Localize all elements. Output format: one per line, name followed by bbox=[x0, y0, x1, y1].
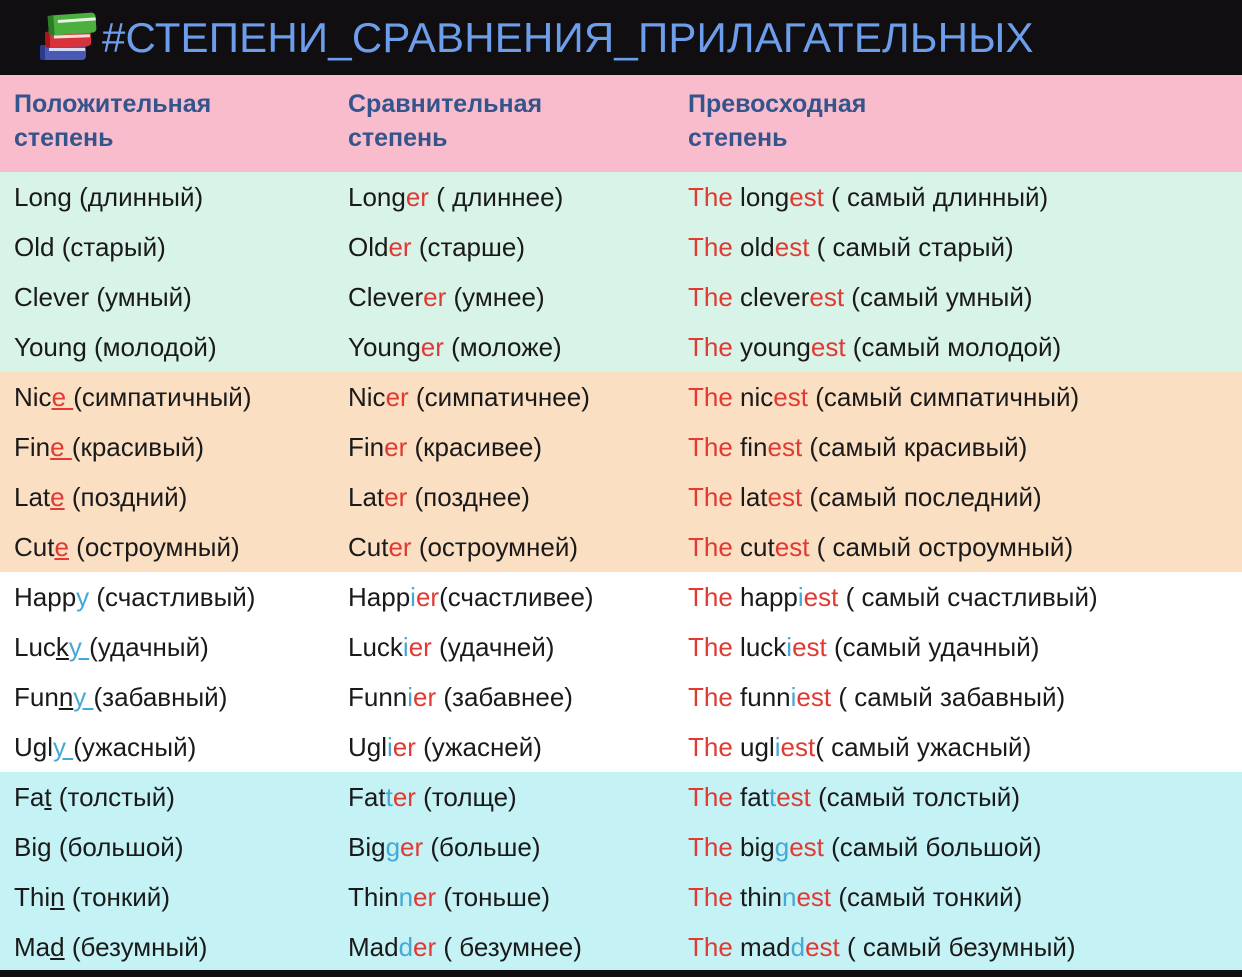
cell-superlative: The ugliest( самый ужасный) bbox=[680, 732, 1242, 763]
text-run: (тоньше) bbox=[436, 882, 550, 912]
text-run: happ bbox=[733, 582, 798, 612]
cell-positive: Fat (толстый) bbox=[0, 782, 340, 813]
text-run: ( самый ужасный) bbox=[815, 732, 1031, 762]
text-run: Old bbox=[348, 232, 388, 262]
text-run: Ugl bbox=[348, 732, 387, 762]
text-run: est bbox=[789, 182, 824, 212]
cell-superlative: The fattest (самый толстый) bbox=[680, 782, 1242, 813]
text-run: Luck bbox=[348, 632, 403, 662]
text-run: Fin bbox=[348, 432, 384, 462]
cell-positive: Young (молодой) bbox=[0, 332, 340, 363]
cell-positive: Thin (тонкий) bbox=[0, 882, 340, 913]
text-run: Big bbox=[348, 832, 386, 862]
text-run: (самый удачный) bbox=[827, 632, 1040, 662]
text-run: t bbox=[386, 782, 393, 812]
text-run: Long bbox=[348, 182, 406, 212]
table-row: Late (поздний)Later (позднее)The latest … bbox=[0, 472, 1242, 522]
text-run: Cut bbox=[348, 532, 388, 562]
cell-comparative: Longer ( длиннее) bbox=[340, 182, 680, 213]
text-run: long bbox=[733, 182, 789, 212]
text-run: (большой) bbox=[52, 832, 184, 862]
text-run: y bbox=[76, 582, 89, 612]
text-run: The bbox=[688, 782, 733, 812]
text-run: The bbox=[688, 282, 733, 312]
text-run: mad bbox=[733, 932, 791, 962]
table-section-doubled-consonant: Fat (толстый)Fatter (толще)The fattest (… bbox=[0, 772, 1242, 972]
text-run: er bbox=[413, 882, 436, 912]
text-run: (ужасный) bbox=[73, 732, 196, 762]
text-run: Happ bbox=[348, 582, 410, 612]
text-run: The bbox=[688, 532, 733, 562]
text-run: Nic bbox=[348, 382, 386, 412]
cell-superlative: The funniest ( самый забавный) bbox=[680, 682, 1242, 713]
text-run: e bbox=[50, 482, 64, 512]
text-run: est bbox=[768, 432, 803, 462]
bottom-bar bbox=[0, 970, 1242, 977]
cell-positive: Long (длинный) bbox=[0, 182, 340, 213]
text-run: The bbox=[688, 182, 733, 212]
text-run: Clever bbox=[348, 282, 423, 312]
table-row: Clever (умный)Cleverer (умнее)The clever… bbox=[0, 272, 1242, 322]
cell-positive: Big (большой) bbox=[0, 832, 340, 863]
text-run: (остроумней) bbox=[412, 532, 578, 562]
text-run: (симпатичнее) bbox=[409, 382, 590, 412]
text-run: Lat bbox=[348, 482, 384, 512]
text-run: The bbox=[688, 682, 733, 712]
text-run: (длинный) bbox=[72, 182, 203, 212]
text-run: (удачней) bbox=[432, 632, 555, 662]
text-run: er bbox=[423, 282, 446, 312]
text-run: ugl bbox=[733, 732, 775, 762]
text-run: est bbox=[781, 732, 816, 762]
text-run: er bbox=[386, 382, 409, 412]
column-header-comparative: Сравнительная степень bbox=[340, 75, 680, 172]
text-run: Cut bbox=[14, 532, 54, 562]
table-row: Lucky (удачный)Luckier (удачней)The luck… bbox=[0, 622, 1242, 672]
cell-superlative: The biggest (самый большой) bbox=[680, 832, 1242, 863]
text-run: g bbox=[386, 832, 400, 862]
cell-superlative: The happiest ( самый счастливый) bbox=[680, 582, 1242, 613]
cell-comparative: Bigger (больше) bbox=[340, 832, 680, 863]
table-row: Nice (симпатичный)Nicer (симпатичнее)The… bbox=[0, 372, 1242, 422]
text-run: e bbox=[54, 532, 68, 562]
adjective-table: Long (длинный)Longer ( длиннее)The longe… bbox=[0, 172, 1242, 970]
text-run: (старше) bbox=[412, 232, 525, 262]
text-run: t bbox=[44, 782, 51, 812]
cell-positive: Late (поздний) bbox=[0, 482, 340, 513]
text-run: (симпатичный) bbox=[73, 382, 251, 412]
cell-positive: Funny (забавный) bbox=[0, 682, 340, 713]
text-run: er bbox=[413, 932, 436, 962]
text-run: Long bbox=[14, 182, 72, 212]
text-run: (удачный) bbox=[89, 632, 209, 662]
text-run: (самый большой) bbox=[824, 832, 1042, 862]
text-run: est bbox=[775, 532, 810, 562]
text-run: n bbox=[399, 882, 413, 912]
text-run: fat bbox=[733, 782, 769, 812]
cell-superlative: The cutest ( самый остроумный) bbox=[680, 532, 1242, 563]
cell-comparative: Cuter (остроумней) bbox=[340, 532, 680, 563]
text-run: er bbox=[388, 532, 411, 562]
text-run: ( безумнее) bbox=[436, 932, 582, 962]
text-run: est bbox=[776, 782, 811, 812]
text-run: est bbox=[768, 482, 803, 512]
text-run: Old bbox=[14, 232, 54, 262]
text-run: luck bbox=[733, 632, 786, 662]
table-row: Funny (забавный)Funnier (забавнее)The fu… bbox=[0, 672, 1242, 722]
text-run: est bbox=[811, 332, 846, 362]
text-run: thin bbox=[733, 882, 782, 912]
text-run: er bbox=[413, 682, 436, 712]
text-run: (толстый) bbox=[52, 782, 175, 812]
text-run: nic bbox=[733, 382, 773, 412]
column-header-positive-line2: степень bbox=[14, 121, 340, 155]
cell-superlative: The oldest ( самый старый) bbox=[680, 232, 1242, 263]
text-run: Fin bbox=[14, 432, 50, 462]
cell-superlative: The nicest (самый симпатичный) bbox=[680, 382, 1242, 413]
cell-comparative: Uglier (ужасней) bbox=[340, 732, 680, 763]
text-run: clever bbox=[733, 282, 810, 312]
text-run: est bbox=[792, 632, 827, 662]
cell-positive: Cute (остроумный) bbox=[0, 532, 340, 563]
text-run: The bbox=[688, 332, 733, 362]
text-run: Luc bbox=[14, 632, 56, 662]
cell-superlative: The finest (самый красивый) bbox=[680, 432, 1242, 463]
text-run: est bbox=[796, 882, 831, 912]
text-run: cut bbox=[733, 532, 775, 562]
text-run: (самый молодой) bbox=[846, 332, 1062, 362]
cell-comparative: Cleverer (умнее) bbox=[340, 282, 680, 313]
text-run: Ugl bbox=[14, 732, 53, 762]
text-run: Lat bbox=[14, 482, 50, 512]
cell-comparative: Thinner (тоньше) bbox=[340, 882, 680, 913]
text-run: er bbox=[384, 432, 407, 462]
column-header-positive-line1: Положительная bbox=[14, 87, 340, 121]
cell-positive: Ugly (ужасный) bbox=[0, 732, 340, 763]
text-run: ( самый старый) bbox=[809, 232, 1013, 262]
text-run: ( самый счастливый) bbox=[838, 582, 1097, 612]
table-row: Long (длинный)Longer ( длиннее)The longe… bbox=[0, 172, 1242, 222]
text-run: (забавнее) bbox=[436, 682, 573, 712]
text-run: Ma bbox=[14, 932, 50, 962]
text-run: est bbox=[789, 832, 824, 862]
table-row: Mad (безумный)Madder ( безумнее)The madd… bbox=[0, 922, 1242, 972]
text-run: (больше) bbox=[423, 832, 540, 862]
text-run: The bbox=[688, 632, 733, 662]
text-run: y bbox=[73, 682, 93, 712]
text-run: er bbox=[400, 832, 423, 862]
text-run: (умный) bbox=[89, 282, 192, 312]
text-run: Funn bbox=[348, 682, 407, 712]
text-run: Bi bbox=[14, 832, 37, 862]
text-run: (счастливый) bbox=[89, 582, 255, 612]
text-run: er bbox=[409, 632, 432, 662]
text-run: est bbox=[796, 682, 831, 712]
column-header-superlative-line1: Превосходная bbox=[688, 87, 1242, 121]
text-run: er bbox=[384, 482, 407, 512]
books-icon bbox=[38, 12, 96, 66]
table-row: Ugly (ужасный)Uglier (ужасней)The uglies… bbox=[0, 722, 1242, 772]
text-run: est bbox=[805, 932, 840, 962]
text-run: The bbox=[688, 832, 733, 862]
cell-positive: Happy (счастливый) bbox=[0, 582, 340, 613]
text-run: (поздний) bbox=[65, 482, 188, 512]
text-run: old bbox=[733, 232, 775, 262]
text-run: k bbox=[56, 632, 69, 662]
table-row: Big (большой)Bigger (больше)The biggest … bbox=[0, 822, 1242, 872]
cell-comparative: Funnier (забавнее) bbox=[340, 682, 680, 713]
cell-positive: Lucky (удачный) bbox=[0, 632, 340, 663]
text-run: Nic bbox=[14, 382, 52, 412]
text-run: Fat bbox=[348, 782, 386, 812]
text-run: n bbox=[50, 882, 64, 912]
text-run: er bbox=[421, 332, 444, 362]
cell-superlative: The cleverest (самый умный) bbox=[680, 282, 1242, 313]
text-run: ( длиннее) bbox=[429, 182, 563, 212]
cell-comparative: Happier(счастливее) bbox=[340, 582, 680, 613]
text-run: er bbox=[393, 782, 416, 812]
infographic-page: #СТЕПЕНИ_СРАВНЕНИЯ_ПРИЛАГАТЕЛЬНЫХ Положи… bbox=[0, 0, 1242, 977]
column-header-row: Положительная степень Сравнительная степ… bbox=[0, 75, 1242, 172]
text-run: ( самый длинный) bbox=[824, 182, 1048, 212]
column-header-comparative-line2: степень bbox=[348, 121, 680, 155]
text-run: g bbox=[775, 832, 789, 862]
text-run: ( самый безумный) bbox=[840, 932, 1076, 962]
text-run: funn bbox=[733, 682, 791, 712]
cell-positive: Nice (симпатичный) bbox=[0, 382, 340, 413]
text-run: Young bbox=[14, 332, 87, 362]
cell-superlative: The luckiest (самый удачный) bbox=[680, 632, 1242, 663]
table-row: Fat (толстый)Fatter (толще)The fattest (… bbox=[0, 772, 1242, 822]
column-header-superlative: Превосходная степень bbox=[680, 75, 1242, 172]
text-run: d bbox=[791, 932, 805, 962]
text-run: The bbox=[688, 232, 733, 262]
text-run: est bbox=[773, 382, 808, 412]
text-run: The bbox=[688, 382, 733, 412]
text-run: Clever bbox=[14, 282, 89, 312]
cell-superlative: The thinnest (самый тонкий) bbox=[680, 882, 1242, 913]
cell-comparative: Madder ( безумнее) bbox=[340, 932, 680, 963]
text-run: big bbox=[733, 832, 775, 862]
cell-positive: Fine (красивый) bbox=[0, 432, 340, 463]
text-run: (моложе) bbox=[444, 332, 562, 362]
text-run: The bbox=[688, 432, 733, 462]
text-run: The bbox=[688, 932, 733, 962]
text-run: est bbox=[809, 282, 844, 312]
cell-comparative: Finer (красивее) bbox=[340, 432, 680, 463]
table-row: Old (старый)Older (старше)The oldest ( с… bbox=[0, 222, 1242, 272]
text-run: n bbox=[782, 882, 796, 912]
text-run: (самый последний) bbox=[802, 482, 1041, 512]
text-run: e bbox=[52, 382, 74, 412]
text-run: (самый тонкий) bbox=[831, 882, 1022, 912]
text-run: (красивый) bbox=[72, 432, 204, 462]
text-run: d bbox=[399, 932, 413, 962]
text-run: young bbox=[733, 332, 811, 362]
column-header-comparative-line1: Сравнительная bbox=[348, 87, 680, 121]
text-run: Thi bbox=[14, 882, 50, 912]
text-run: Mad bbox=[348, 932, 399, 962]
text-run: (толще) bbox=[416, 782, 517, 812]
table-row: Happy (счастливый)Happier(счастливее)The… bbox=[0, 572, 1242, 622]
text-run: (остроумный) bbox=[69, 532, 240, 562]
text-run: er bbox=[406, 182, 429, 212]
text-run: (тонкий) bbox=[65, 882, 170, 912]
table-row: Thin (тонкий)Thinner (тоньше)The thinnes… bbox=[0, 872, 1242, 922]
text-run: est bbox=[775, 232, 810, 262]
text-run: fin bbox=[733, 432, 768, 462]
table-section-one-syllable: Long (длинный)Longer ( длиннее)The longe… bbox=[0, 172, 1242, 372]
text-run: ( самый остроумный) bbox=[809, 532, 1073, 562]
text-run: The bbox=[688, 482, 733, 512]
text-run: er bbox=[393, 732, 416, 762]
cell-superlative: The longest ( самый длинный) bbox=[680, 182, 1242, 213]
text-run: lat bbox=[733, 482, 768, 512]
text-run: (ужасней) bbox=[416, 732, 542, 762]
cell-positive: Clever (умный) bbox=[0, 282, 340, 313]
cell-comparative: Nicer (симпатичнее) bbox=[340, 382, 680, 413]
cell-positive: Mad (безумный) bbox=[0, 932, 340, 963]
text-run: g bbox=[37, 832, 51, 862]
cell-superlative: The youngest (самый молодой) bbox=[680, 332, 1242, 363]
text-run: (самый толстый) bbox=[811, 782, 1020, 812]
cell-comparative: Fatter (толще) bbox=[340, 782, 680, 813]
text-run: er bbox=[416, 582, 439, 612]
text-run: e bbox=[50, 432, 72, 462]
cell-comparative: Later (позднее) bbox=[340, 482, 680, 513]
cell-comparative: Luckier (удачней) bbox=[340, 632, 680, 663]
text-run: ( самый забавный) bbox=[831, 682, 1065, 712]
text-run: Happ bbox=[14, 582, 76, 612]
text-run: Fa bbox=[14, 782, 44, 812]
title-bar: #СТЕПЕНИ_СРАВНЕНИЯ_ПРИЛАГАТЕЛЬНЫХ bbox=[0, 0, 1242, 75]
text-run: er bbox=[388, 232, 411, 262]
table-row: Cute (остроумный)Cuter (остроумней)The c… bbox=[0, 522, 1242, 572]
text-run: (позднее) bbox=[407, 482, 530, 512]
text-run: Young bbox=[348, 332, 421, 362]
column-header-superlative-line2: степень bbox=[688, 121, 1242, 155]
table-section-consonant-plus-y: Happy (счастливый)Happier(счастливее)The… bbox=[0, 572, 1242, 772]
text-run: (молодой) bbox=[87, 332, 217, 362]
text-run: (счастливее) bbox=[439, 582, 594, 612]
text-run: est bbox=[804, 582, 839, 612]
text-run: (старый) bbox=[54, 232, 165, 262]
text-run: The bbox=[688, 732, 733, 762]
text-run: (самый симпатичный) bbox=[808, 382, 1079, 412]
cell-comparative: Older (старше) bbox=[340, 232, 680, 263]
text-run: y bbox=[69, 632, 89, 662]
page-title: #СТЕПЕНИ_СРАВНЕНИЯ_ПРИЛАГАТЕЛЬНЫХ bbox=[102, 17, 1034, 59]
cell-superlative: The maddest ( самый безумный) bbox=[680, 932, 1242, 963]
table-row: Fine (красивый)Finer (красивее)The fines… bbox=[0, 422, 1242, 472]
text-run: y bbox=[53, 732, 73, 762]
text-run: (умнее) bbox=[446, 282, 544, 312]
text-run: The bbox=[688, 882, 733, 912]
cell-positive: Old (старый) bbox=[0, 232, 340, 263]
text-run: n bbox=[59, 682, 73, 712]
table-row: Young (молодой)Younger (моложе)The young… bbox=[0, 322, 1242, 372]
cell-comparative: Younger (моложе) bbox=[340, 332, 680, 363]
text-run: (забавный) bbox=[94, 682, 228, 712]
text-run: (красивее) bbox=[407, 432, 542, 462]
text-run: (самый красивый) bbox=[802, 432, 1027, 462]
column-header-positive: Положительная степень bbox=[0, 75, 340, 172]
table-section-silent-e: Nice (симпатичный)Nicer (симпатичнее)The… bbox=[0, 372, 1242, 572]
cell-superlative: The latest (самый последний) bbox=[680, 482, 1242, 513]
text-run: (самый умный) bbox=[844, 282, 1032, 312]
text-run: (безумный) bbox=[65, 932, 208, 962]
text-run: Thin bbox=[348, 882, 399, 912]
text-run: d bbox=[50, 932, 64, 962]
text-run: The bbox=[688, 582, 733, 612]
text-run: Fun bbox=[14, 682, 59, 712]
